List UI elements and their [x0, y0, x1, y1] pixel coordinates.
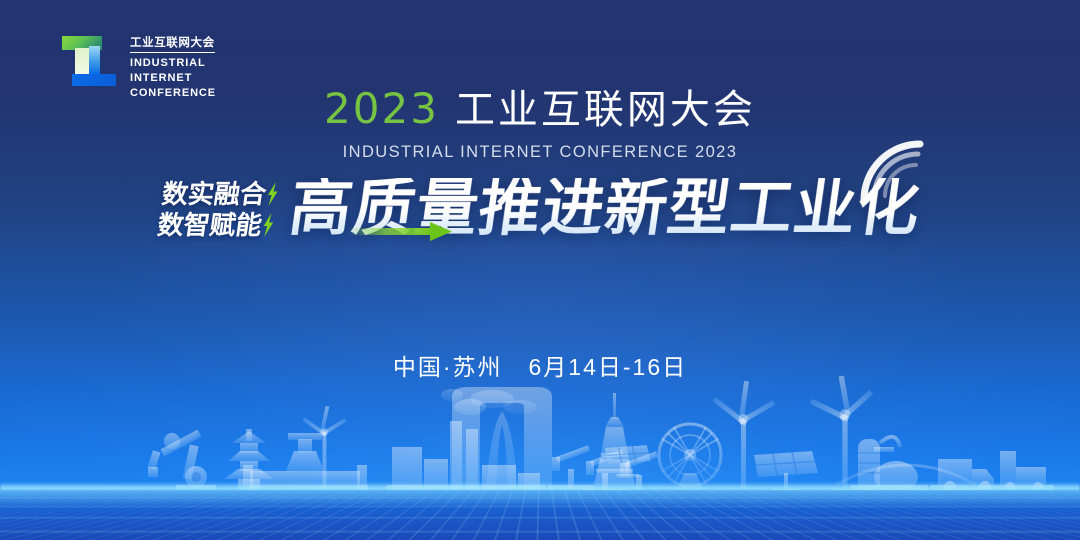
title-chinese: 工业互联网大会 — [455, 90, 756, 130]
tv-tower-icon — [592, 393, 637, 493]
slogan-line-2: 数智赋能 — [156, 212, 276, 238]
conference-banner: 工业互联网大会 INDUSTRIAL INTERNET CONFERENCE 2… — [0, 0, 1080, 540]
lightning-bolt-icon — [265, 182, 279, 206]
green-arrow-icon — [348, 220, 456, 242]
slogan-small-block: 数实融合 数智赋能 — [156, 181, 280, 238]
headline-block: 数实融合 数智赋能 高质量推进新型工业化 — [0, 178, 1080, 240]
title-row: 2023 工业互联网大会 — [0, 88, 1080, 130]
slogan-line-1-text: 数实融合 — [160, 181, 268, 207]
skyline-silhouette — [0, 373, 1080, 493]
wifi-signal-icon — [854, 134, 926, 204]
logo-english-line-2: INTERNET — [130, 71, 216, 86]
logo-english-line-1: INDUSTRIAL — [130, 56, 216, 71]
headline-inner: 数实融合 数智赋能 高质量推进新型工业化 — [160, 178, 920, 240]
perspective-grid-floor — [0, 490, 1080, 540]
slogan-line-1: 数实融合 — [160, 181, 280, 207]
city-industry-scene — [0, 360, 1080, 540]
lightning-bolt-icon — [261, 213, 275, 237]
slogan-line-2-text: 数智赋能 — [156, 212, 264, 238]
title-year: 2023 — [324, 88, 439, 130]
industrial-internet-conference-logo-mark — [58, 30, 120, 92]
logo-chinese-name: 工业互联网大会 — [130, 36, 215, 53]
